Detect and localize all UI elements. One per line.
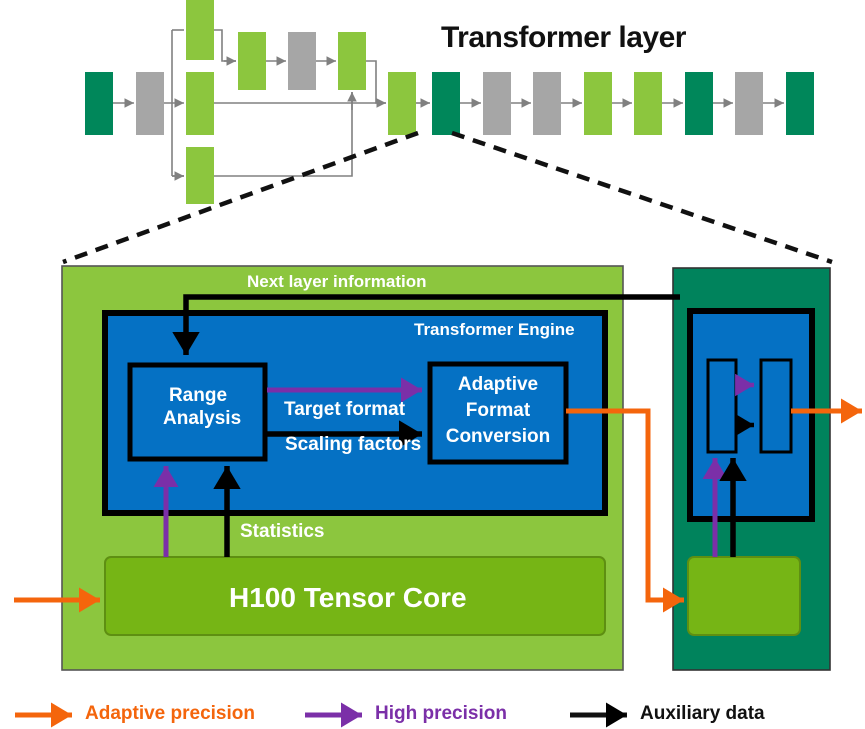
diagram-canvas: Transformer layer — [0, 0, 865, 729]
legend-high-precision-label: High precision — [375, 703, 507, 725]
legend-auxiliary-data-label: Auxiliary data — [640, 703, 765, 725]
legend-arrows-layer — [0, 0, 865, 729]
legend-adaptive-precision-label: Adaptive precision — [85, 703, 255, 725]
